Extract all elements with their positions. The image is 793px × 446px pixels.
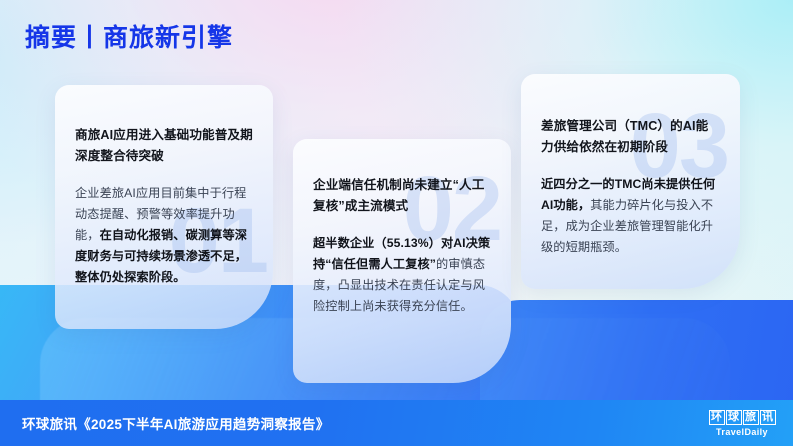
slide-canvas: 摘要丨商旅新引擎 01 商旅AI应用进入基础功能普及期深度整合待突破 企业差旅A…	[0, 0, 793, 446]
brand-logo[interactable]: 环 球 旅 讯 TravelDaily	[705, 405, 779, 441]
card-title: 商旅AI应用进入基础功能普及期深度整合待突破	[75, 125, 253, 167]
insight-card-01[interactable]: 01 商旅AI应用进入基础功能普及期深度整合待突破 企业差旅AI应用目前集中于行…	[55, 85, 273, 329]
brand-logo-cn: 环 球 旅 讯	[709, 410, 776, 425]
logo-char: 球	[726, 410, 742, 425]
logo-char: 环	[709, 410, 725, 425]
card-body: 企业差旅AI应用目前集中于行程动态提醒、预警等效率提升功能，在自动化报销、碳测算…	[75, 183, 253, 288]
card-content: 差旅管理公司（TMC）的AI能力供给依然在初期阶段 近四分之一的TMC尚未提供任…	[521, 74, 740, 258]
brand-logo-en: TravelDaily	[716, 427, 768, 437]
card-body: 近四分之一的TMC尚未提供任何AI功能，其能力碎片化与投入不足，成为企业差旅管理…	[541, 174, 720, 258]
card-content: 商旅AI应用进入基础功能普及期深度整合待突破 企业差旅AI应用目前集中于行程动态…	[55, 85, 273, 288]
logo-char: 旅	[743, 410, 759, 425]
card-title: 差旅管理公司（TMC）的AI能力供给依然在初期阶段	[541, 116, 720, 158]
card-title: 企业端信任机制尚未建立“人工复核”成主流模式	[313, 175, 491, 217]
footer-bar: 环球旅讯《2025下半年AI旅游应用趋势洞察报告》 环 球 旅 讯 Travel…	[0, 400, 793, 446]
card-body-strong: 在自动化报销、碳测算等深度财务与可持续场景渗透不足，整体仍处探索阶段。	[75, 228, 247, 284]
insight-card-03[interactable]: 03 差旅管理公司（TMC）的AI能力供给依然在初期阶段 近四分之一的TMC尚未…	[521, 74, 740, 289]
insight-card-02[interactable]: 02 企业端信任机制尚未建立“人工复核”成主流模式 超半数企业（55.13%）对…	[293, 139, 511, 383]
page-title: 摘要丨商旅新引擎	[25, 18, 233, 54]
card-body: 超半数企业（55.13%）对AI决策持“信任但需人工复核”的审慎态度，凸显出技术…	[313, 233, 491, 317]
card-content: 企业端信任机制尚未建立“人工复核”成主流模式 超半数企业（55.13%）对AI决…	[293, 139, 511, 317]
logo-char: 讯	[760, 410, 776, 425]
footer-source-text: 环球旅讯《2025下半年AI旅游应用趋势洞察报告》	[22, 413, 330, 433]
